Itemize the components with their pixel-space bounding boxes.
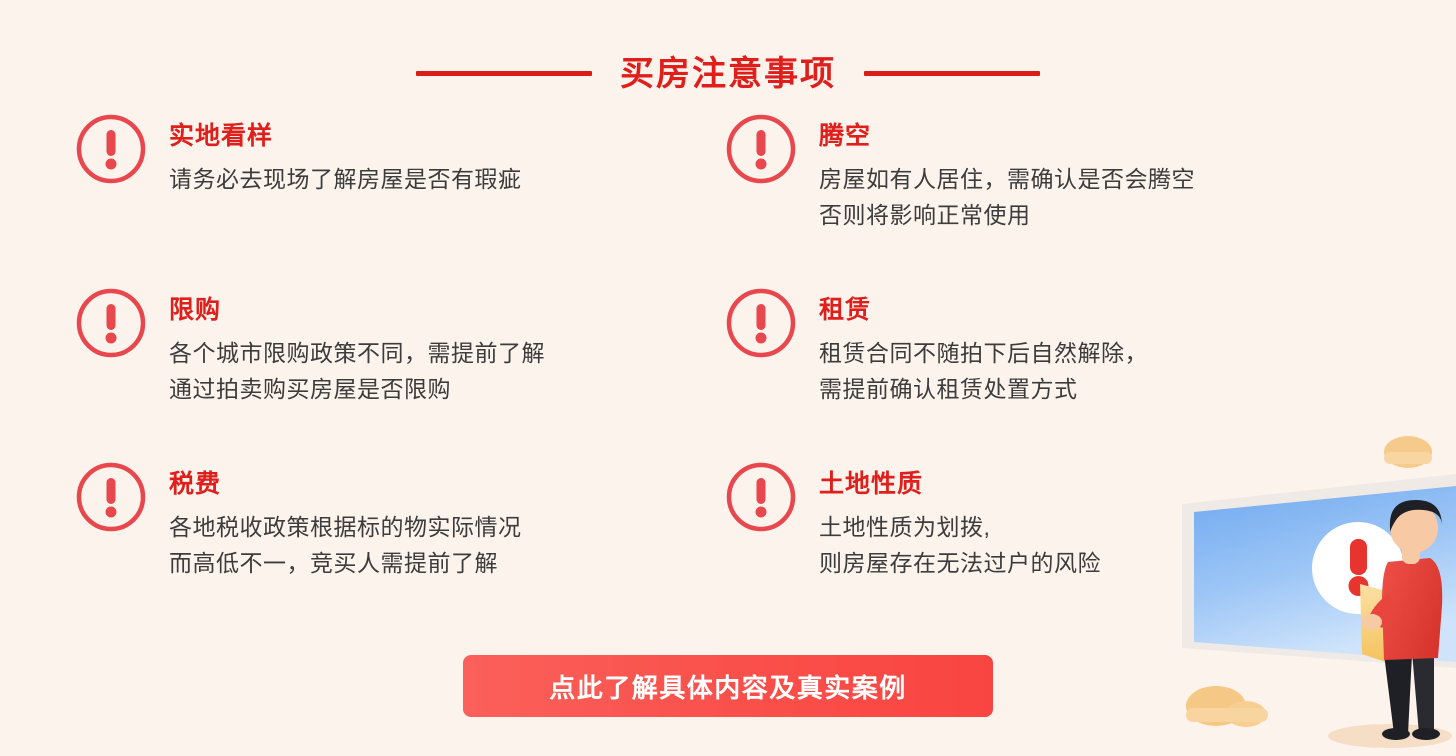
- tip-title: 限购: [169, 296, 545, 325]
- tip-lines: 请务必去现场了解房屋是否有瑕疵: [169, 161, 522, 197]
- exclamation-circle-icon: [75, 461, 147, 533]
- tip-body: 租赁 租赁合同不随拍下后自然解除， 需提前确认租赁处置方式: [819, 286, 1148, 407]
- tip-title: 土地性质: [819, 470, 1101, 499]
- page-header: 买房注意事项: [0, 34, 1456, 114]
- tips-grid: 实地看样 请务必去现场了解房屋是否有瑕疵 腾空 房屋如有人居住，需确认是否会腾空: [0, 112, 1456, 634]
- tip-title: 实地看样: [169, 122, 522, 151]
- tip-lines: 各地税收政策根据标的物实际情况 而高低不一，竞买人需提前了解: [169, 509, 522, 581]
- page-title: 买房注意事项: [620, 57, 836, 91]
- tip-lines: 各个城市限购政策不同，需提前了解 通过拍卖购买房屋是否限购: [169, 335, 545, 407]
- learn-more-button[interactable]: 点此了解具体内容及真实案例: [463, 655, 993, 717]
- tip-line: 房屋如有人居住，需确认是否会腾空: [819, 161, 1195, 197]
- tip-item: 税费 各地税收政策根据标的物实际情况 而高低不一，竞买人需提前了解: [75, 460, 725, 634]
- ground-shadow: [1328, 724, 1452, 748]
- tip-line: 需提前确认租赁处置方式: [819, 371, 1148, 407]
- exclamation-circle-icon: [725, 287, 797, 359]
- tip-title: 税费: [169, 470, 522, 499]
- tip-item: 腾空 房屋如有人居住，需确认是否会腾空 否则将影响正常使用: [725, 112, 1375, 286]
- tip-body: 土地性质 土地性质为划拨, 则房屋存在无法过户的风险: [819, 460, 1101, 581]
- tip-item: 土地性质 土地性质为划拨, 则房屋存在无法过户的风险: [725, 460, 1375, 634]
- tip-line: 土地性质为划拨,: [819, 509, 1101, 545]
- tip-title: 租赁: [819, 296, 1148, 325]
- tip-line: 则房屋存在无法过户的风险: [819, 545, 1101, 581]
- tip-item: 租赁 租赁合同不随拍下后自然解除， 需提前确认租赁处置方式: [725, 286, 1375, 460]
- tip-lines: 土地性质为划拨, 则房屋存在无法过户的风险: [819, 509, 1101, 581]
- tip-lines: 租赁合同不随拍下后自然解除， 需提前确认租赁处置方式: [819, 335, 1148, 407]
- tip-line: 通过拍卖购买房屋是否限购: [169, 371, 545, 407]
- tip-line: 否则将影响正常使用: [819, 197, 1195, 233]
- tip-line: 租赁合同不随拍下后自然解除，: [819, 335, 1148, 371]
- exclamation-circle-icon: [725, 461, 797, 533]
- title-rule-right: [864, 71, 1040, 76]
- exclamation-circle-icon: [75, 287, 147, 359]
- tip-line: 各地税收政策根据标的物实际情况: [169, 509, 522, 545]
- exclamation-circle-icon: [725, 113, 797, 185]
- tip-line: 而高低不一，竞买人需提前了解: [169, 545, 522, 581]
- tip-line: 请务必去现场了解房屋是否有瑕疵: [169, 161, 522, 197]
- tip-item: 限购 各个城市限购政策不同，需提前了解 通过拍卖购买房屋是否限购: [75, 286, 725, 460]
- tip-body: 限购 各个城市限购政策不同，需提前了解 通过拍卖购买房屋是否限购: [169, 286, 545, 407]
- tip-lines: 房屋如有人居住，需确认是否会腾空 否则将影响正常使用: [819, 161, 1195, 233]
- tip-line: 各个城市限购政策不同，需提前了解: [169, 335, 545, 371]
- tip-body: 实地看样 请务必去现场了解房屋是否有瑕疵: [169, 112, 522, 197]
- tip-body: 税费 各地税收政策根据标的物实际情况 而高低不一，竞买人需提前了解: [169, 460, 522, 581]
- poster-root: 买房注意事项 实地看样 请务必去现场了解房屋是否有瑕疵: [0, 0, 1456, 756]
- title-rule-left: [416, 71, 592, 76]
- cta-container: 点此了解具体内容及真实案例: [0, 655, 1456, 717]
- tip-body: 腾空 房屋如有人居住，需确认是否会腾空 否则将影响正常使用: [819, 112, 1195, 233]
- exclamation-circle-icon: [75, 113, 147, 185]
- tip-title: 腾空: [819, 122, 1195, 151]
- tip-item: 实地看样 请务必去现场了解房屋是否有瑕疵: [75, 112, 725, 286]
